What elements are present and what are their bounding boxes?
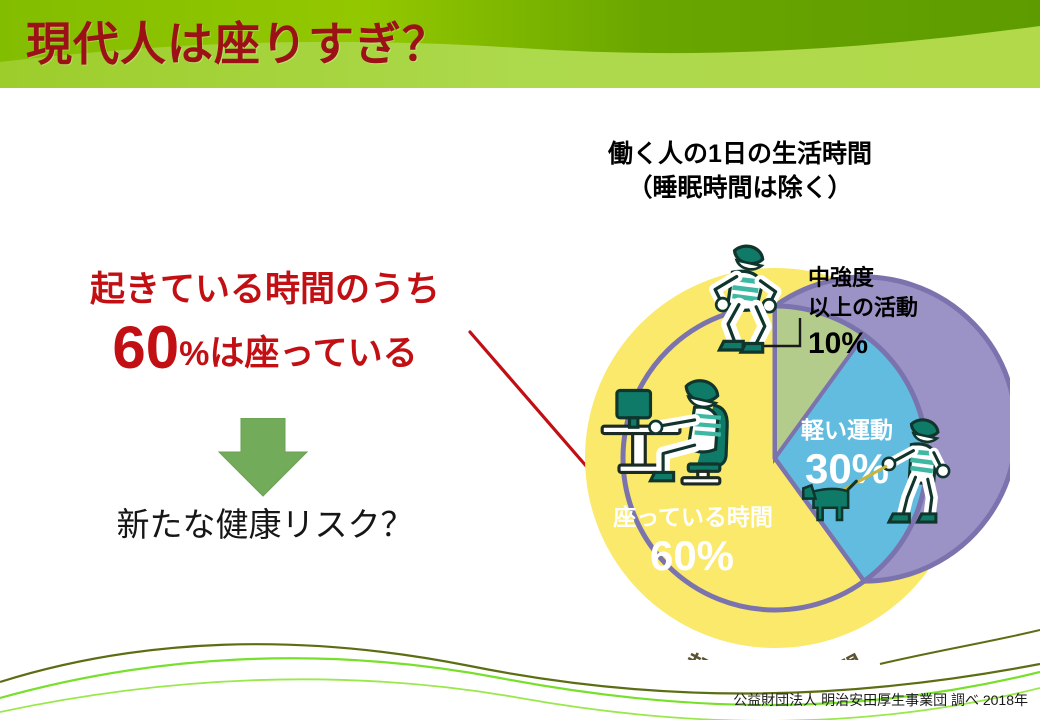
chart-title: 働く人の1日の生活時間 （睡眠時間は除く） [540, 138, 940, 206]
down-arrow-shape [203, 418, 323, 498]
slide-canvas: 現代人は座りすぎ？ 働く人の1日の生活時間 （睡眠時間は除く） 起きている時間の… [0, 0, 1040, 720]
pie-chart-svg: 起きている時間 座っている時間 60% 軽い運動 30% 中強度 以上の活動 1… [540, 240, 1010, 660]
risk-statement: 新たな健康リスク？ [40, 498, 490, 546]
slice-label-moderate-activity-line1: 中強度 [808, 265, 875, 290]
source-credit: 公益財団法人 明治安田厚生事業団 調べ 2018年 [733, 690, 1028, 710]
callout-big-number: 60 [112, 314, 179, 381]
callout-text: 起きている時間のうち 60%は座っている [40, 268, 490, 379]
chart-title-line2: （睡眠時間は除く） [540, 172, 940, 206]
callout-line2: 60%は座っている [40, 316, 490, 379]
callout-percent-sign: % [179, 335, 209, 373]
header-banner: 現代人は座りすぎ？ [0, 0, 1040, 90]
page-title: 現代人は座りすぎ？ [26, 8, 449, 74]
down-arrow-icon [203, 418, 323, 498]
chart-title-line1: 働く人の1日の生活時間 [608, 140, 872, 168]
slice-label-moderate-activity-line2: 以上の活動 [808, 295, 918, 320]
slice-value-moderate-activity: 10% [808, 327, 868, 360]
slice-label-light-exercise: 軽い運動 [801, 417, 893, 443]
callout-line2-rest: は座っている [209, 334, 417, 373]
slice-label-sitting-time: 座っている時間 [613, 504, 773, 530]
pie-chart-figure: 起きている時間 座っている時間 60% 軽い運動 30% 中強度 以上の活動 1… [540, 240, 1010, 660]
callout-line1: 起きている時間のうち [40, 268, 490, 312]
slice-value-light-exercise: 30% [805, 445, 889, 492]
slice-value-sitting-time: 60% [650, 532, 734, 579]
